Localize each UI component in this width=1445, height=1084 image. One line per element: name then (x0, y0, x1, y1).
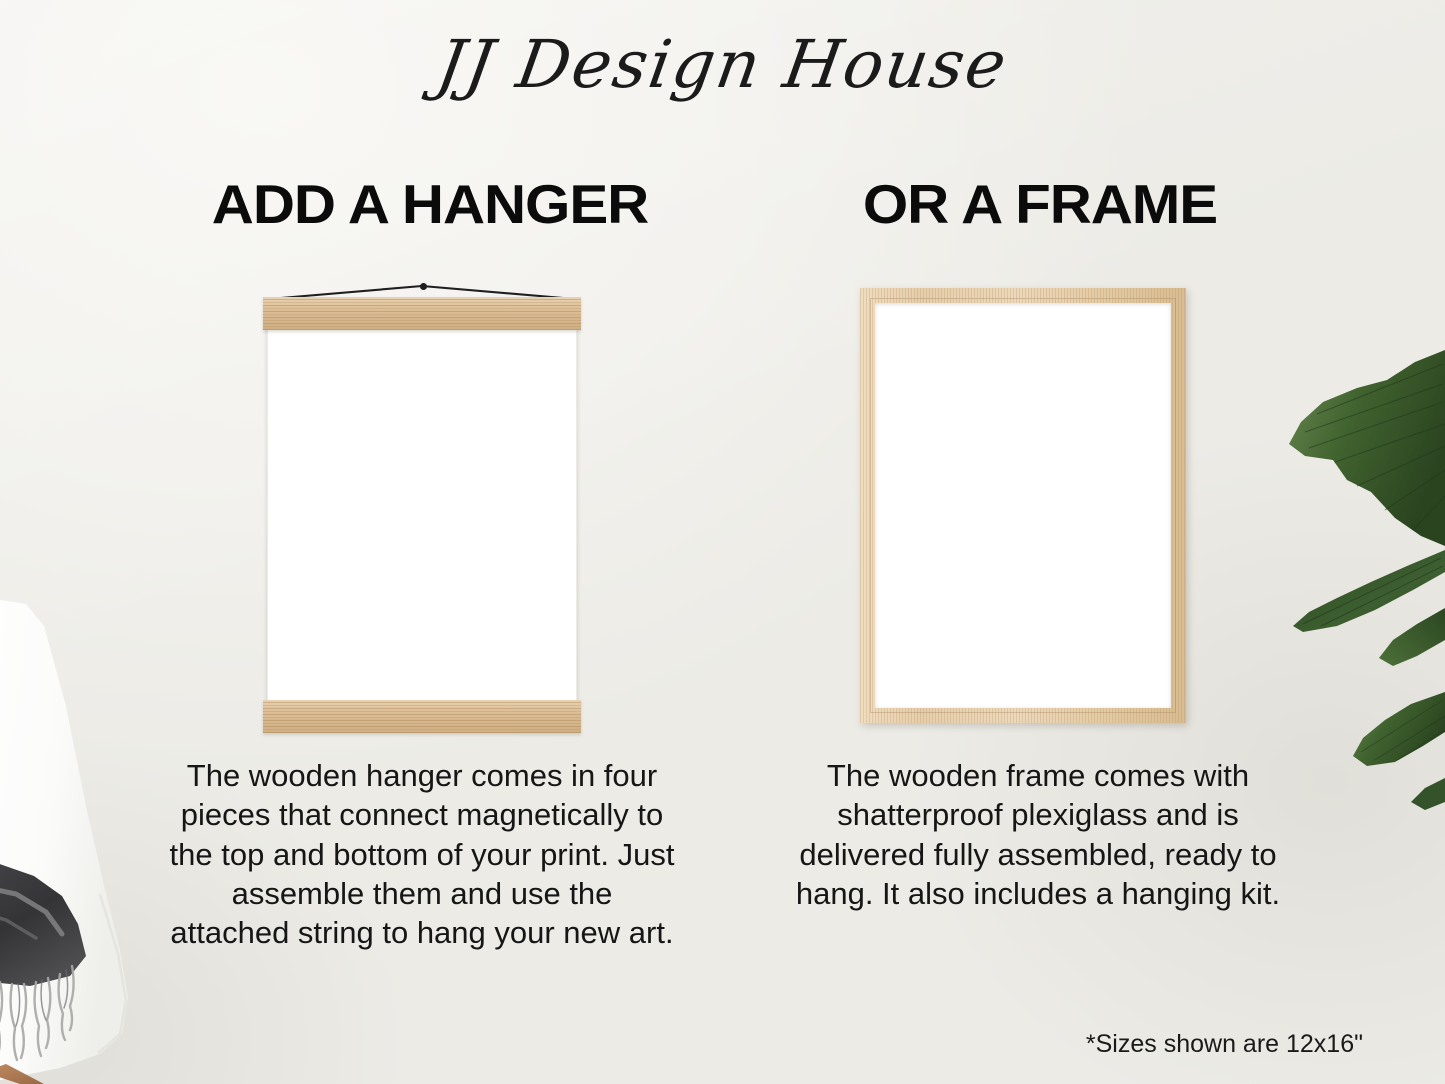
hanger-print-paper (267, 327, 577, 705)
description-hanger: The wooden hanger comes in four pieces t… (168, 756, 676, 953)
size-footnote: *Sizes shown are 12x16" (1086, 1030, 1363, 1059)
heading-or-a-frame: OR A FRAME (817, 172, 1262, 236)
mockup-scene: JJ Design House ADD A HANGER OR A FRAME … (0, 0, 1445, 1084)
heading-add-a-hanger: ADD A HANGER (165, 172, 695, 236)
brand-logo: JJ Design House (0, 26, 1445, 103)
poster-hanger-mockup (263, 283, 581, 733)
chair-with-blanket-icon (0, 594, 190, 1084)
picture-frame-mockup (860, 288, 1186, 723)
fan-palm-plant-icon (1275, 340, 1445, 810)
description-frame: The wooden frame comes with shatterproof… (790, 756, 1286, 913)
hanger-bar-top (263, 297, 581, 330)
hanger-nail-icon (420, 283, 427, 290)
frame-print-area (875, 303, 1171, 708)
hanger-bar-bottom (263, 700, 581, 733)
